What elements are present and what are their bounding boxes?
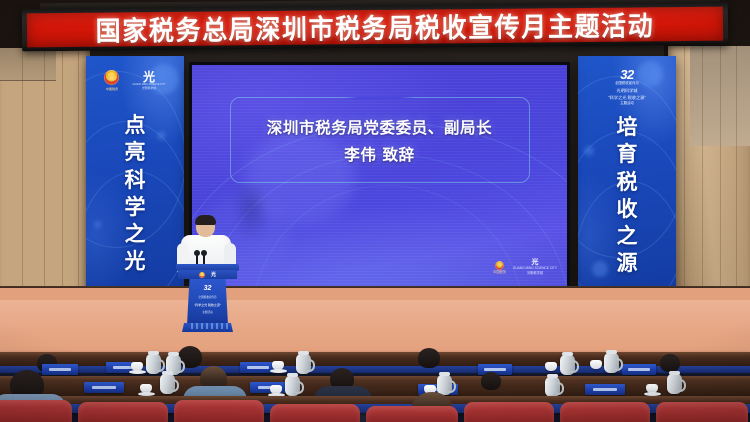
- edition-number: 32: [578, 68, 676, 81]
- left-banner-vertical-text: 点 亮 科 学 之 光: [86, 112, 184, 276]
- guangming-science-city-logo: 光 GUANG MING SCIENCE CITY 光明科学城: [132, 71, 165, 89]
- teapot: [560, 355, 575, 375]
- teapot: [285, 376, 300, 396]
- podium-base: [182, 323, 233, 332]
- teapot: [545, 377, 560, 397]
- saucer: [270, 369, 287, 373]
- auditorium-seat: [464, 402, 554, 422]
- name-placard: [622, 364, 656, 375]
- guangming-science-city-logo: 光 GUANG MING SCIENCE CITY 光明科学城: [513, 259, 557, 275]
- right-banner-header: 32 全国税收宣传月 光明科学城 “科学之光 税收之源” 主题活动: [578, 68, 676, 107]
- auditorium-seat: [366, 406, 458, 422]
- auditorium-seat: [174, 400, 264, 422]
- teapot: [604, 353, 619, 373]
- teapot: [667, 374, 682, 394]
- auditorium-seat: [270, 404, 360, 422]
- screen-speaker-role: 深圳市税务局党委委员、副局长: [267, 116, 492, 138]
- led-banner-text: 国家税务总局深圳市税务局税收宣传月主题活动: [96, 7, 655, 48]
- led-title-banner: 国家税务总局深圳市税务局税收宣传月主题活动: [22, 3, 728, 52]
- conference-photo: 国家税务总局深圳市税务局税收宣传月主题活动 中国税务 光 GUANG MING …: [0, 0, 750, 422]
- screen-speaker-name: 李伟 致辞: [344, 143, 414, 165]
- audience-head: [481, 372, 501, 390]
- audience-head: [660, 354, 680, 372]
- audience-area: [0, 352, 750, 422]
- left-vertical-banner: 中国税务 光 GUANG MING SCIENCE CITY 光明科学城 点 亮…: [86, 56, 184, 306]
- teapot: [296, 354, 311, 374]
- audience-head: [418, 348, 440, 368]
- right-vertical-banner: 32 全国税收宣传月 光明科学城 “科学之光 税收之源” 主题活动 培 育 税 …: [578, 56, 676, 306]
- stage-floor: [0, 288, 750, 360]
- teapot: [146, 354, 161, 374]
- speaker-with-podium: 光 32 全国税收宣传月 “科学之光 税收之源” 主题活动: [172, 216, 244, 328]
- auditorium-seat: [0, 400, 72, 422]
- china-tax-emblem: [199, 272, 205, 278]
- name-placard: [585, 384, 625, 395]
- right-banner-vertical-text: 培 育 税 收 之 源: [578, 114, 676, 278]
- left-upper-wall: [0, 48, 56, 81]
- main-led-screen: 深圳市税务局党委委员、副局长 李伟 致辞 中国税务 光 GUANG MING S…: [189, 62, 570, 290]
- speaker-hair: [195, 215, 216, 225]
- name-placard: [84, 382, 124, 393]
- name-placard: [42, 364, 78, 375]
- podium-front-panel: 32 全国税收宣传月 “科学之光 税收之源” 主题活动: [187, 279, 228, 325]
- auditorium-seat: [78, 402, 168, 422]
- teacup: [545, 362, 557, 371]
- teapot: [437, 375, 452, 395]
- auditorium-seat: [560, 402, 650, 422]
- left-banner-logos: 中国税务 光 GUANG MING SCIENCE CITY 光明科学城: [86, 70, 184, 91]
- podium: 光 32 全国税收宣传月 “科学之光 税收之源” 主题活动: [180, 264, 235, 328]
- guangming-science-city-logo: 光: [211, 271, 216, 278]
- teacup: [590, 360, 602, 369]
- saucer: [129, 370, 146, 374]
- podium-edition-number: 32: [204, 285, 212, 292]
- teapot: [160, 374, 175, 394]
- screen-corner-logos: 中国税务 光 GUANG MING SCIENCE CITY 光明科学城: [493, 259, 557, 275]
- china-tax-emblem: 中国税务: [104, 70, 119, 91]
- screen-message-box: 深圳市税务局党委委员、副局长 李伟 致辞: [230, 97, 530, 183]
- china-tax-emblem: 中国税务: [493, 261, 506, 274]
- auditorium-seat: [656, 402, 748, 422]
- left-wood-wall-panel: [0, 48, 90, 306]
- podium-logo-band: 光: [178, 270, 237, 279]
- right-wood-wall-panel: [668, 46, 750, 308]
